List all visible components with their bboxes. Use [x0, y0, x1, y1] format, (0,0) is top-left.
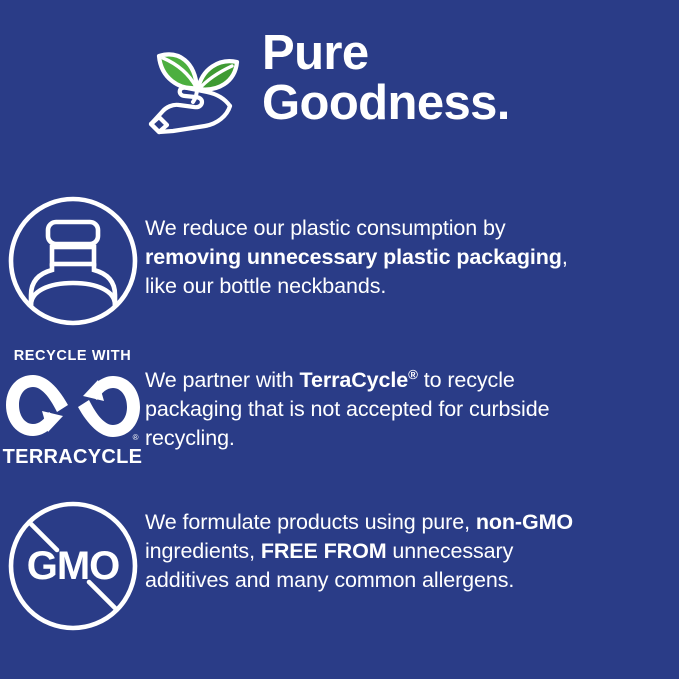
text-part-bold: non-GMO — [476, 510, 573, 534]
text-part-bold: TerraCycle® — [300, 368, 418, 392]
registered-trademark-icon: ® — [408, 367, 418, 382]
terracycle-wordmark: TERRACYCLE — [3, 446, 143, 468]
feature-row-terracycle: RECYCLE WITH ® TERRACYCLE — [0, 348, 679, 468]
feature-icon-slot — [0, 195, 145, 327]
hand-holding-sprout-icon — [145, 32, 250, 137]
text-part-bold: removing unnecessary plastic packaging — [145, 245, 562, 269]
feature-row-plastic-reduction: We reduce our plastic consumption by rem… — [0, 195, 679, 327]
text-part: We reduce our plastic consumption by — [145, 216, 506, 240]
feature-text-plastic-reduction: We reduce our plastic consumption by rem… — [145, 195, 575, 301]
registered-trademark-icon: ® — [133, 434, 139, 442]
terracycle-logo: RECYCLE WITH ® TERRACYCLE — [2, 348, 144, 468]
infinity-recycle-arrows-icon: ® — [2, 367, 144, 445]
feature-row-non-gmo: GMO We formulate products using pure, no… — [0, 500, 679, 632]
pure-goodness-infographic: Pure Goodness. We reduce ou — [0, 0, 679, 679]
text-part-bold: FREE FROM — [261, 539, 387, 563]
gmo-label: GMO — [26, 544, 119, 588]
page-title: Pure Goodness. — [262, 26, 510, 128]
feature-text-non-gmo: We formulate products using pure, non-GM… — [145, 500, 575, 595]
feature-icon-slot: RECYCLE WITH ® TERRACYCLE — [0, 348, 145, 468]
no-gmo-icon: GMO — [7, 500, 139, 632]
feature-text-terracycle: We partner with TerraCycle® to recycle p… — [145, 348, 575, 453]
text-part: ingredients, — [145, 539, 261, 563]
bottle-in-circle-icon — [7, 195, 139, 327]
text-part: We partner with — [145, 368, 300, 392]
text-part: We formulate products using pure, — [145, 510, 476, 534]
header: Pure Goodness. — [0, 26, 679, 137]
feature-icon-slot: GMO — [0, 500, 145, 632]
terracycle-brand-name: TerraCycle — [300, 368, 409, 392]
terracycle-top-label: RECYCLE WITH — [14, 348, 132, 365]
